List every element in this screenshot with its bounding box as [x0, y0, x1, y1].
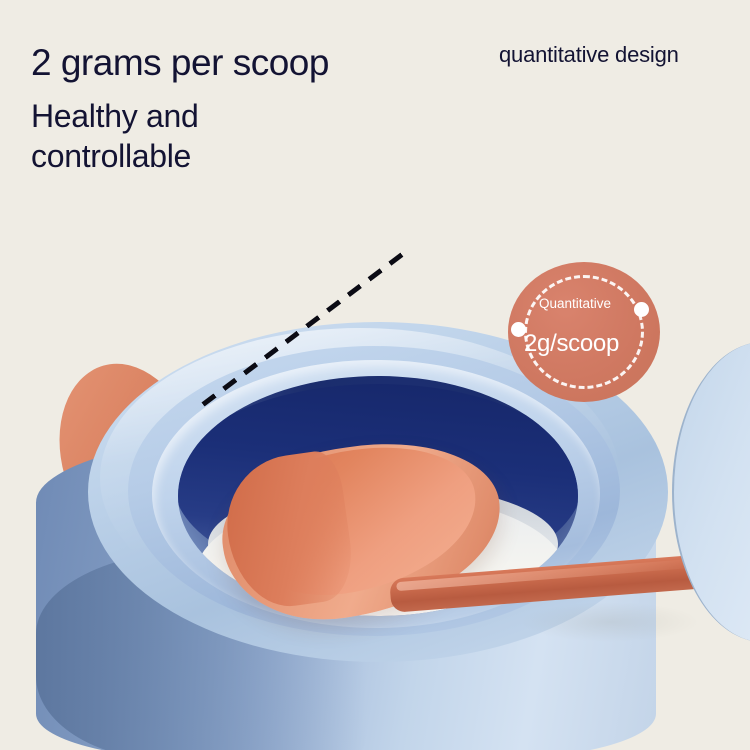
badge-value: 2g/scoop — [524, 330, 654, 358]
subheadline: Healthy and controllable — [31, 96, 331, 176]
eyebrow-text: quantitative design — [499, 42, 679, 68]
subheadline-line-2: controllable — [31, 136, 331, 176]
headline: 2 grams per scoop — [31, 42, 329, 84]
subheadline-line-1: Healthy and — [31, 96, 331, 136]
container-lid — [672, 342, 750, 642]
quantitative-badge: Quantitative 2g/scoop — [508, 262, 660, 402]
badge-label: Quantitative — [539, 296, 631, 311]
product-marketing-image: 2 grams per scoop Healthy and controllab… — [0, 0, 750, 750]
ground-shadow — [520, 602, 700, 642]
badge-dot-right-icon — [634, 302, 649, 317]
